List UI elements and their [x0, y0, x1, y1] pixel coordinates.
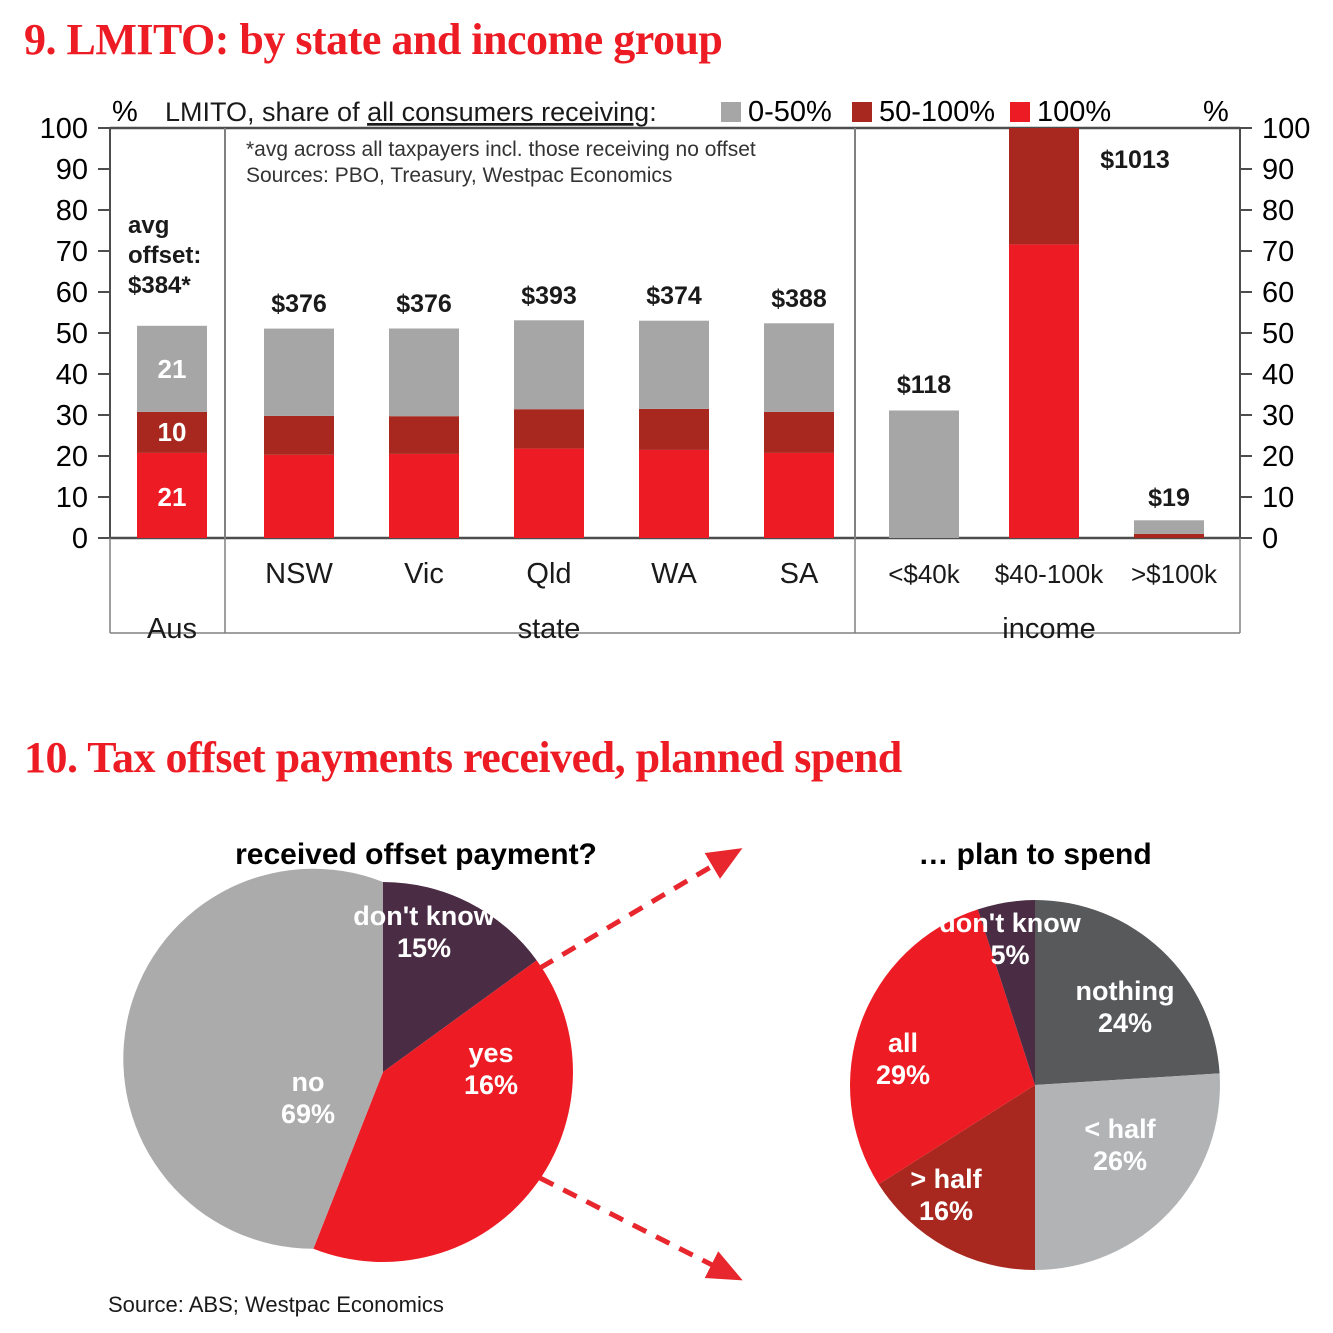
ytick-r-20: 20	[1262, 441, 1294, 473]
bar-40-100k-seg-50-100	[1009, 128, 1079, 244]
ytick-90: 90	[56, 154, 88, 186]
aus-avg-line2: offset:	[128, 242, 201, 269]
bar-label-wa: $374	[646, 282, 702, 310]
arrow-lower	[540, 1178, 736, 1277]
bar-under40k-seg-0-50	[889, 411, 959, 539]
legend-swatch-50-100	[852, 102, 872, 122]
pie1-title: received offset payment?	[235, 838, 597, 871]
bar-label-qld: $393	[521, 282, 577, 310]
bar-sa-seg-50-100	[764, 412, 834, 453]
page-title-chart-10: 10. Tax offset payments received, planne…	[24, 732, 902, 783]
bar-sa-seg-0-50	[764, 323, 834, 412]
ytick-r-80: 80	[1262, 195, 1294, 227]
ytick-60: 60	[56, 277, 88, 309]
aus-avg-offset-annotation: avg offset: $384*	[128, 212, 201, 299]
bar-wa-seg-50-100	[639, 409, 709, 450]
cat-label-qld: Qld	[526, 558, 571, 590]
pie-plan-to-spend: don't know 5% nothing 24% < half 26% > h…	[850, 900, 1220, 1270]
bar-label-over100k: $19	[1148, 484, 1190, 512]
ytick-30: 30	[56, 400, 88, 432]
pie2-value-more-half: 16%	[919, 1196, 973, 1226]
bar-group-qld: $393	[514, 282, 584, 538]
cat-label-nsw: NSW	[265, 558, 333, 590]
pie2-label-nothing: nothing	[1076, 976, 1175, 1006]
bar-group-aus: 21 10 21	[137, 326, 207, 538]
bar-nsw-seg-100	[264, 455, 334, 538]
bar-nsw-seg-50-100	[264, 416, 334, 455]
ytick-r-60: 60	[1262, 277, 1294, 309]
source-note: Source: ABS; Westpac Economics	[108, 1292, 444, 1318]
ytick-10: 10	[56, 482, 88, 514]
note-sources-line: Sources: PBO, Treasury, Westpac Economic…	[246, 164, 672, 187]
bar-wa-seg-100	[639, 450, 709, 538]
pie1-label-no: no	[292, 1067, 325, 1097]
bar-label-under40k: $118	[897, 371, 951, 399]
pie2-label-less-half: < half	[1084, 1114, 1156, 1144]
bar-wa-seg-0-50	[639, 321, 709, 409]
bar-40-100k-seg-100	[1009, 244, 1079, 538]
pie2-label-dont-know: don't know	[939, 908, 1081, 938]
group-label-income: income	[1002, 613, 1096, 645]
chart9-category-band: NSW Vic Qld WA SA <$40k $40-100k >$100k …	[110, 538, 1240, 645]
pie2-value-nothing: 24%	[1098, 1008, 1152, 1038]
bar-label-vic: $376	[396, 290, 452, 318]
bar-qld-seg-100	[514, 449, 584, 538]
aus-avg-line1: avg	[128, 212, 169, 239]
bar-vic-seg-50-100	[389, 416, 459, 454]
ytick-r-100: 100	[1262, 113, 1310, 145]
bar-group-wa: $374	[639, 282, 709, 538]
bar-vic-seg-0-50	[389, 329, 459, 417]
bar-qld-seg-0-50	[514, 320, 584, 409]
pie2-value-dont-know: 5%	[990, 940, 1029, 970]
bar-group-40-100k: $1013	[1009, 128, 1170, 538]
pie2-value-less-half: 26%	[1093, 1146, 1147, 1176]
ytick-20: 20	[56, 441, 88, 473]
chart9-legend: % LMITO, share of all consumers receivin…	[112, 96, 1229, 128]
ytick-40: 40	[56, 359, 88, 391]
cat-label-40-100k: $40-100k	[995, 559, 1104, 589]
ytick-0: 0	[72, 523, 88, 555]
pie-received-offset-payment: don't know 15% yes 16% no 69%	[123, 869, 573, 1262]
pie2-label-all: all	[888, 1028, 918, 1058]
bar-sa-seg-100	[764, 453, 834, 538]
bar-over100k-seg-0-50	[1134, 520, 1204, 534]
page-title-chart-9: 9. LMITO: by state and income group	[24, 14, 722, 65]
bar-label-nsw: $376	[271, 290, 327, 318]
bar-qld-seg-50-100	[514, 409, 584, 448]
group-label-state: state	[518, 613, 581, 645]
bar-label-sa: $388	[771, 285, 827, 313]
ytick-r-40: 40	[1262, 359, 1294, 391]
aus-avg-line3: $384*	[128, 272, 191, 299]
ytick-r-90: 90	[1262, 154, 1294, 186]
axis-unit-right: %	[1203, 96, 1229, 128]
offset-payment-pies: received offset payment? … plan to spend…	[0, 820, 1333, 1320]
chart9-notes: *avg across all taxpayers incl. those re…	[246, 138, 756, 187]
ytick-r-50: 50	[1262, 318, 1294, 350]
ytick-100: 100	[40, 113, 88, 145]
legend-label-50-100: 50-100%	[879, 96, 995, 128]
ytick-80: 80	[56, 195, 88, 227]
legend-heading: LMITO, share of all consumers receiving:	[165, 97, 657, 127]
cat-label-under40k: <$40k	[888, 559, 961, 589]
bar-over100k-seg-50-100	[1134, 534, 1204, 538]
ytick-r-70: 70	[1262, 236, 1294, 268]
ytick-r-10: 10	[1262, 482, 1294, 514]
bar-group-vic: $376	[389, 290, 459, 538]
ytick-70: 70	[56, 236, 88, 268]
bar-label-40-100k: $1013	[1100, 146, 1170, 174]
pie2-label-more-half: > half	[910, 1164, 982, 1194]
pie1-value-dont-know: 15%	[397, 933, 451, 963]
bar-group-under-40k: $118	[889, 371, 959, 538]
pie1-value-no: 69%	[281, 1099, 335, 1129]
bar-nsw-seg-0-50	[264, 329, 334, 416]
legend-swatch-0-50	[721, 102, 741, 122]
lmito-bar-chart: % LMITO, share of all consumers receivin…	[0, 88, 1333, 668]
pie1-label-dont-know: don't know	[353, 901, 495, 931]
chart9-ytick-labels-left: 100 90 80 70 60 50 40 30 20 10 0	[40, 113, 88, 555]
aus-seg-label-100: 21	[158, 482, 187, 512]
note-avg-line: *avg across all taxpayers incl. those re…	[246, 138, 756, 161]
aus-seg-label-0-50: 21	[158, 354, 187, 384]
cat-label-over100k: >$100k	[1131, 559, 1218, 589]
chart9-ytick-labels-right: 100 90 80 70 60 50 40 30 20 10 0	[1262, 113, 1310, 555]
cat-label-vic: Vic	[404, 558, 444, 590]
legend-label-0-50: 0-50%	[748, 96, 832, 128]
bar-group-over-100k: $19	[1134, 484, 1204, 538]
cat-label-sa: SA	[780, 558, 819, 590]
bar-vic-seg-100	[389, 454, 459, 538]
ytick-r-0: 0	[1262, 523, 1278, 555]
pie1-label-yes: yes	[468, 1038, 513, 1068]
legend-label-100: 100%	[1037, 96, 1111, 128]
pie1-value-yes: 16%	[464, 1070, 518, 1100]
axis-unit-left: %	[112, 96, 138, 128]
aus-seg-label-50-100: 10	[158, 417, 187, 447]
legend-swatch-100	[1010, 102, 1030, 122]
pie2-title: … plan to spend	[918, 838, 1151, 871]
bar-group-sa: $388	[764, 285, 834, 538]
bar-group-nsw: $376	[264, 290, 334, 538]
group-label-aus: Aus	[147, 613, 197, 645]
ytick-r-30: 30	[1262, 400, 1294, 432]
ytick-50: 50	[56, 318, 88, 350]
pie2-value-all: 29%	[876, 1060, 930, 1090]
cat-label-wa: WA	[651, 558, 697, 590]
